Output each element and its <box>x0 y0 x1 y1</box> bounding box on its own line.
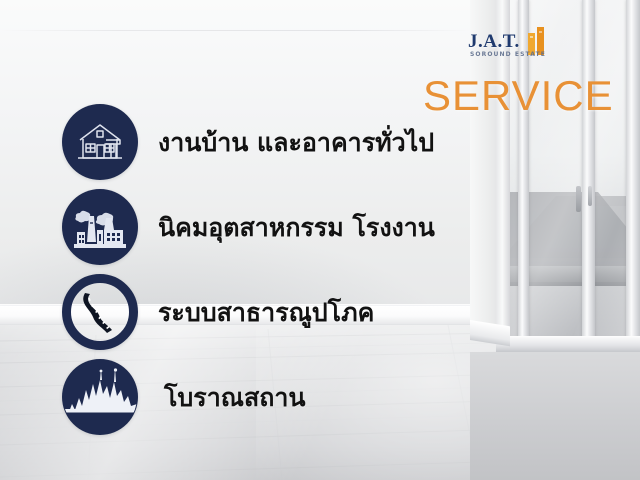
list-item-label: ระบบสาธารณูปโภค <box>158 300 374 325</box>
list-item[interactable]: นิคมอุตสาหกรรม โรงงาน <box>62 189 435 265</box>
winding-road-icon <box>77 289 123 335</box>
door-handle-secondary[interactable] <box>588 186 592 206</box>
factory-icon <box>74 204 126 250</box>
badge-ancient-site <box>62 359 138 435</box>
list-item-label: โบราณสถาน <box>164 385 305 410</box>
door-floor-area <box>470 352 640 480</box>
logo-wordmark: J.A.T. <box>468 31 520 53</box>
ancient-temple-icon <box>63 360 137 434</box>
house-icon <box>76 120 124 164</box>
list-item-label: นิคมอุตสาหกรรม โรงงาน <box>158 215 435 240</box>
service-list: งานบ้าน และอาคารทั่วไป <box>0 0 470 480</box>
service-banner: J.A.T. SOROUND ESTATE SERVICE <box>0 0 640 480</box>
badge-utilities <box>62 274 138 350</box>
list-item[interactable]: โบราณสถาน <box>62 359 305 435</box>
list-item[interactable]: ระบบสาธารณูปโภค <box>62 274 374 350</box>
badge-house <box>62 104 138 180</box>
list-item-label: งานบ้าน และอาคารทั่วไป <box>158 130 434 155</box>
door-threshold <box>496 336 640 352</box>
door-handle[interactable] <box>576 186 581 212</box>
brand-logo[interactable]: J.A.T. SOROUND ESTATE <box>468 27 572 61</box>
door-mullion-2 <box>582 0 595 344</box>
logo-subtitle: SOROUND ESTATE <box>470 51 546 58</box>
door-mullion-3 <box>626 0 640 344</box>
list-item[interactable]: งานบ้าน และอาคารทั่วไป <box>62 104 434 180</box>
badge-factory <box>62 189 138 265</box>
